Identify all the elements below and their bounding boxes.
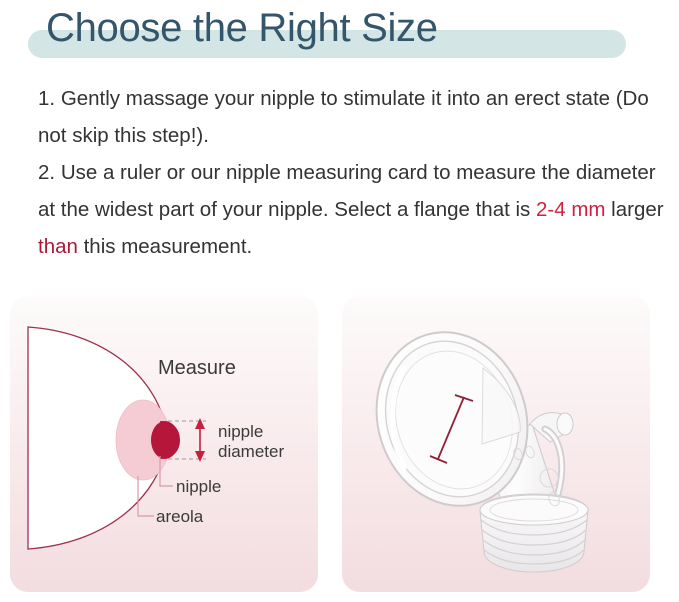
step-2-text-middle: larger bbox=[605, 198, 663, 221]
step-1-text: Gently massage your nipple to stimulate … bbox=[38, 87, 649, 147]
step-1-number: 1. bbox=[38, 87, 55, 110]
card-pump-flange bbox=[342, 296, 650, 592]
label-areola: areola bbox=[156, 507, 203, 527]
measure-heading: Measure bbox=[158, 357, 236, 380]
pump-flange-svg bbox=[342, 296, 650, 592]
instructions-block: 1. Gently massage your nipple to stimula… bbox=[38, 80, 674, 265]
diameter-arrow-head-up bbox=[195, 418, 205, 429]
flange-spout-cap bbox=[557, 413, 573, 435]
card-nipple-measurement: Measure nipple diameter nipple areola bbox=[10, 296, 318, 592]
label-nipple-diameter-line1: nipple bbox=[218, 422, 284, 442]
label-nipple: nipple bbox=[176, 477, 221, 497]
label-nipple-diameter-line2: diameter bbox=[218, 442, 284, 462]
instruction-step-1: 1. Gently massage your nipple to stimula… bbox=[38, 80, 674, 154]
diameter-arrow-head-down bbox=[195, 451, 205, 462]
page-header: Choose the Right Size bbox=[0, 0, 679, 68]
label-nipple-diameter: nipple diameter bbox=[218, 422, 284, 462]
measurement-highlight: 2-4 mm bbox=[536, 198, 605, 221]
step-2-text-after: this measurement. bbox=[78, 235, 252, 258]
instruction-step-2: 2. Use a ruler or our nipple measuring c… bbox=[38, 154, 674, 265]
illustration-cards: Measure nipple diameter nipple areola bbox=[10, 296, 669, 592]
step-2-number: 2. bbox=[38, 161, 55, 184]
nipple-body-shape bbox=[151, 421, 179, 459]
page-title: Choose the Right Size bbox=[46, 0, 438, 56]
flange-base-top-rim bbox=[480, 495, 588, 525]
than-highlight: than bbox=[38, 235, 78, 258]
